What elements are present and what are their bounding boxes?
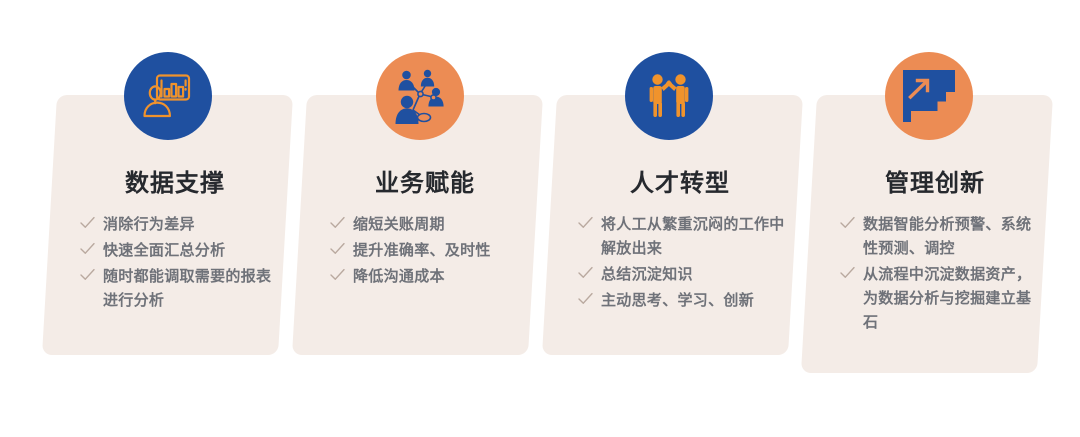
pillar-card-3-title: 人才转型 xyxy=(557,163,803,198)
list-item-label: 随时都能调取需要的报表进行分析 xyxy=(103,265,275,313)
check-icon xyxy=(839,264,856,288)
pillar-badge-3 xyxy=(625,52,713,140)
pillar-card-2-bullets: 缩短关账周期 提升准确率、及时性 降低沟通成本 xyxy=(329,213,525,291)
check-icon xyxy=(839,214,856,238)
check-icon xyxy=(79,266,96,290)
list-item: 随时都能调取需要的报表进行分析 xyxy=(79,265,275,313)
list-item-label: 数据智能分析预警、系统性预测、调控 xyxy=(863,213,1035,261)
people-network-icon xyxy=(389,65,451,127)
list-item-label: 将人工从繁重沉闷的工作中解放出来 xyxy=(601,213,789,261)
check-icon xyxy=(79,240,96,264)
list-item: 降低沟通成本 xyxy=(329,265,525,289)
check-icon xyxy=(329,240,346,264)
list-item-label: 主动思考、学习、创新 xyxy=(601,289,754,313)
list-item: 总结沉淀知识 xyxy=(577,263,789,287)
list-item-label: 从流程中沉淀数据资产，为数据分析与挖掘建立基石 xyxy=(863,263,1035,335)
list-item-label: 快速全面汇总分析 xyxy=(103,239,225,263)
list-item: 提升准确率、及时性 xyxy=(329,239,525,263)
pillar-card-2-title: 业务赋能 xyxy=(307,163,543,198)
list-item: 将人工从繁重沉闷的工作中解放出来 xyxy=(577,213,789,261)
pillar-badge-1 xyxy=(124,52,212,140)
list-item: 快速全面汇总分析 xyxy=(79,239,275,263)
list-item-label: 缩短关账周期 xyxy=(353,213,445,237)
list-item-label: 总结沉淀知识 xyxy=(601,263,693,287)
pillar-badge-4 xyxy=(885,52,973,140)
pillar-card-4-title: 管理创新 xyxy=(817,163,1053,198)
list-item: 主动思考、学习、创新 xyxy=(577,289,789,313)
list-item: 数据智能分析预警、系统性预测、调控 xyxy=(839,213,1035,261)
two-people-high-five-icon xyxy=(641,68,697,124)
check-icon xyxy=(577,290,594,314)
list-item-label: 提升准确率、及时性 xyxy=(353,239,491,263)
list-item-label: 降低沟通成本 xyxy=(353,265,445,289)
stairs-growth-arrow-icon xyxy=(903,70,955,122)
pillar-card-4-bullets: 数据智能分析预警、系统性预测、调控 从流程中沉淀数据资产，为数据分析与挖掘建立基… xyxy=(839,213,1035,337)
check-icon xyxy=(577,264,594,288)
check-icon xyxy=(329,214,346,238)
pillar-badge-2 xyxy=(376,52,464,140)
list-item: 消除行为差异 xyxy=(79,213,275,237)
pillar-card-3-bullets: 将人工从繁重沉闷的工作中解放出来 总结沉淀知识 主动思考、学习、创新 xyxy=(577,213,789,315)
list-item-label: 消除行为差异 xyxy=(103,213,195,237)
infographic-canvas: 数据支撑 消除行为差异 快速全面汇总分析 xyxy=(0,0,1080,437)
pillar-card-1-bullets: 消除行为差异 快速全面汇总分析 随时都能调取需要的报表进行分析 xyxy=(79,213,275,315)
check-icon xyxy=(79,214,96,238)
check-icon xyxy=(329,266,346,290)
list-item: 缩短关账周期 xyxy=(329,213,525,237)
list-item: 从流程中沉淀数据资产，为数据分析与挖掘建立基石 xyxy=(839,263,1035,335)
pillar-card-1-title: 数据支撑 xyxy=(57,163,293,198)
check-icon xyxy=(577,214,594,238)
presentation-bar-chart-icon xyxy=(140,68,196,124)
